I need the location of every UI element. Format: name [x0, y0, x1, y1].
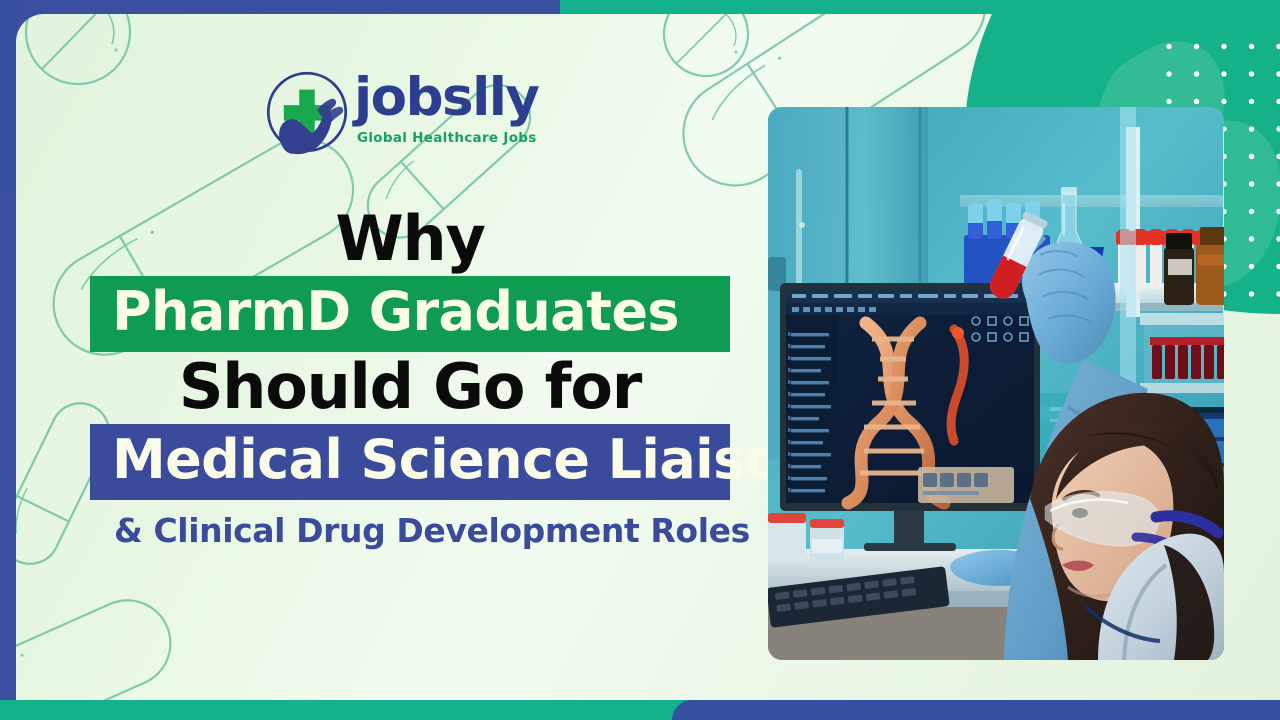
- headline-line-2-highlight: PharmD Graduates: [90, 276, 730, 352]
- headline-line-1: Why: [90, 204, 730, 276]
- left-accent-band: [0, 0, 17, 192]
- lab-shelf-lower: [1140, 313, 1224, 393]
- headline-line-3: Should Go for: [90, 352, 730, 424]
- brand-logo[interactable]: jobslly Global Healthcare Jobs: [264, 69, 516, 165]
- headline-line-5-subtitle: & Clinical Drug Development Roles: [90, 500, 730, 547]
- brand-tagline: Global Healthcare Jobs: [357, 130, 538, 146]
- dark-red-tube-rack: [1150, 337, 1224, 379]
- headline-block: Why PharmD Graduates Should Go for Medic…: [90, 204, 730, 547]
- top-accent-bar: [560, 0, 1280, 15]
- page-card: jobslly Global Healthcare Jobs Why Pharm…: [16, 14, 1280, 700]
- bottom-navy-bar: [672, 700, 1280, 720]
- lab-scientist-photo: [768, 107, 1224, 660]
- headline-line-4-highlight: Medical Science Liaison: [90, 424, 730, 500]
- banner-canvas: jobslly Global Healthcare Jobs Why Pharm…: [0, 0, 1280, 720]
- dna-analysis-monitor: [780, 283, 1040, 551]
- brand-name: jobslly: [354, 73, 538, 124]
- medical-cross-in-hand-circle-icon: [264, 69, 350, 155]
